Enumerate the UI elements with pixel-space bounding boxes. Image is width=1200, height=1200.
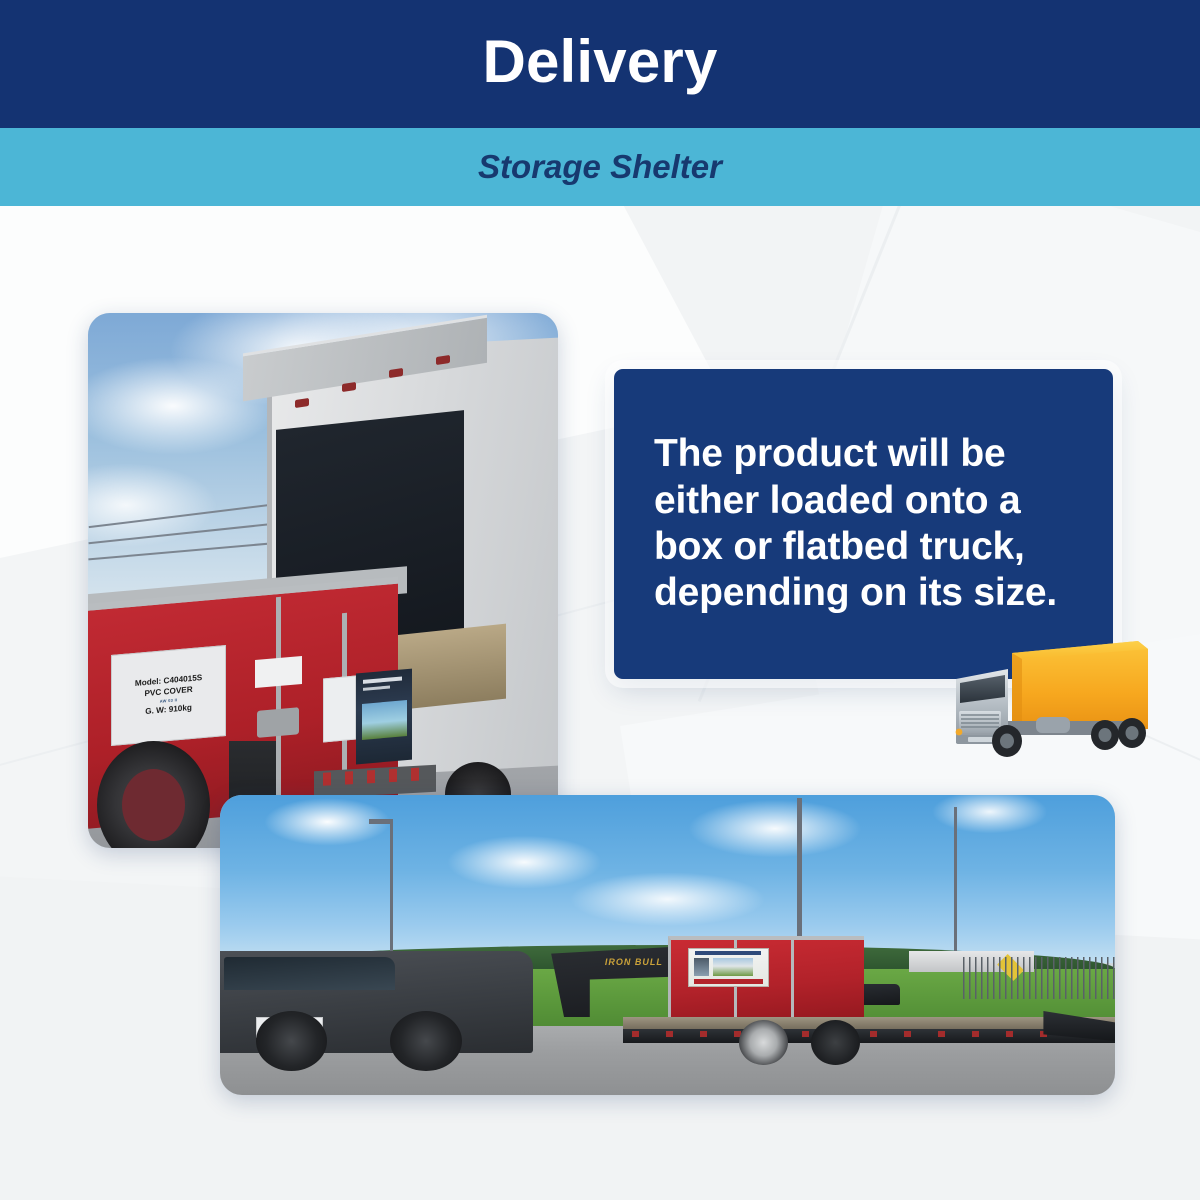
- crate-label-material: PVC COVER: [144, 685, 192, 698]
- crate-spec-label: Model: C404015S PVC COVER AW 03 II G. W:…: [111, 645, 226, 746]
- container-shelter-poster: [356, 669, 412, 765]
- page-title: Delivery: [482, 32, 717, 92]
- trailer-rear-wheel: [811, 1020, 860, 1065]
- callout-box: The product will be either loaded onto a…: [614, 369, 1113, 679]
- photo-flatbed-inner: IRON BULL: [220, 795, 1115, 1095]
- crate-white-sticker: [255, 656, 302, 688]
- delivery-truck-icon: [950, 635, 1148, 765]
- photo-flatbed-trailer: IRON BULL: [220, 795, 1115, 1095]
- crate-strap-handle: [257, 707, 299, 737]
- photo-box-truck-inner: Model: C404015S PVC COVER AW 03 II G. W:…: [88, 313, 558, 848]
- utility-pole: [954, 807, 957, 957]
- crate-label-weight: G. W: 910kg: [145, 703, 192, 716]
- clearance-marker-light: [342, 381, 356, 391]
- crate-frame-post: [276, 596, 281, 810]
- crate-document-pouch: [323, 675, 356, 742]
- slide-page: Delivery Storage Shelter: [0, 0, 1200, 1200]
- trailer-chrome-wheel: [739, 1020, 788, 1065]
- photo-box-truck-loading: Model: C404015S PVC COVER AW 03 II G. W:…: [88, 313, 558, 848]
- truck-license-plate: [968, 737, 994, 742]
- page-subtitle: Storage Shelter: [478, 150, 722, 183]
- pickup-rear-wheel: [390, 1011, 462, 1071]
- shelter-product-banner: [688, 948, 769, 987]
- gooseneck-brand-text: IRON BULL: [605, 957, 663, 967]
- crate-label-barcode: AW 03 II: [159, 698, 177, 705]
- truck-headlight: [956, 729, 963, 736]
- truck-fuel-tank: [1036, 717, 1070, 733]
- clearance-marker-light: [295, 397, 309, 407]
- callout-text: The product will be either loaded onto a…: [654, 431, 1069, 617]
- pickup-cab-window: [224, 957, 394, 990]
- subheader-band: Storage Shelter: [0, 128, 1200, 206]
- header-band: Delivery: [0, 0, 1200, 128]
- light-pole: [390, 819, 393, 957]
- light-pole-fixture: [369, 819, 391, 824]
- pickup-front-wheel: [256, 1011, 328, 1071]
- metal-fence: [963, 957, 1115, 999]
